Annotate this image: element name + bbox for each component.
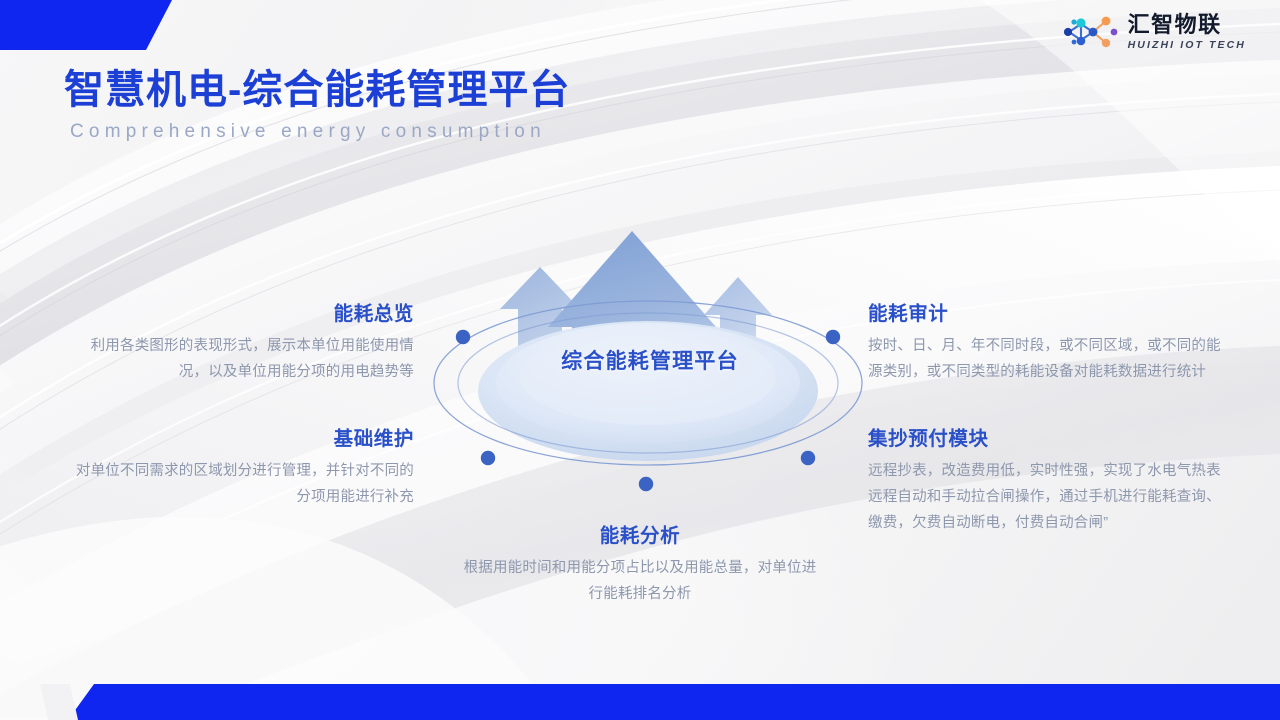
logo-wordmark: 汇智物联 HUIZHI IOT TECH xyxy=(1128,13,1246,50)
center-platform-label: 综合能耗管理平台 xyxy=(420,345,880,375)
feature-energy-analysis: 能耗分析 根据用能时间和用能分项占比以及用能总量，对单位进行能耗排名分析 xyxy=(460,525,820,607)
feature-title: 能耗审计 xyxy=(868,303,1230,326)
feature-basic-maintenance: 基础维护 对单位不同需求的区域划分进行管理，并针对不同的分项用能进行补充 xyxy=(62,428,414,510)
bottom-accent-shape xyxy=(0,684,1280,720)
feature-title: 能耗总览 xyxy=(62,303,414,326)
slide-canvas: 智慧机电-综合能耗管理平台 Comprehensive energy consu… xyxy=(0,0,1280,720)
title-block: 智慧机电-综合能耗管理平台 Comprehensive energy consu… xyxy=(64,68,570,143)
feature-prepaid-metering: 集抄预付模块 远程抄表，改造费用低，实时性强，实现了水电气热表远程自动和手动拉合… xyxy=(868,428,1230,536)
feature-energy-overview: 能耗总览 利用各类图形的表现形式，展示本单位用能使用情况，以及单位用能分项的用电… xyxy=(62,303,414,385)
feature-title: 基础维护 xyxy=(62,428,414,451)
feature-body: 远程抄表，改造费用低，实时性强，实现了水电气热表远程自动和手动拉合闸操作，通过手… xyxy=(868,458,1230,536)
center-platform-graphic: 综合能耗管理平台 xyxy=(420,215,880,525)
feature-title: 集抄预付模块 xyxy=(868,428,1230,451)
logo-name-cn: 汇智物联 xyxy=(1128,13,1222,36)
molecule-network-icon xyxy=(1062,13,1120,51)
feature-body: 利用各类图形的表现形式，展示本单位用能使用情况，以及单位用能分项的用电趋势等 xyxy=(62,333,414,385)
feature-energy-audit: 能耗审计 按时、日、月、年不同时段，或不同区域，或不同的能源类别，或不同类型的耗… xyxy=(868,303,1230,385)
company-logo: 汇智物联 HUIZHI IOT TECH xyxy=(1062,13,1246,51)
top-left-accent-strip xyxy=(0,0,150,5)
logo-name-en: HUIZHI IOT TECH xyxy=(1128,39,1246,51)
feature-body: 根据用能时间和用能分项占比以及用能总量，对单位进行能耗排名分析 xyxy=(460,555,820,607)
page-subtitle: Comprehensive energy consumption xyxy=(70,121,570,143)
feature-title: 能耗分析 xyxy=(460,525,820,548)
feature-body: 对单位不同需求的区域划分进行管理，并针对不同的分项用能进行补充 xyxy=(62,458,414,510)
page-title: 智慧机电-综合能耗管理平台 xyxy=(64,68,570,113)
feature-body: 按时、日、月、年不同时段，或不同区域，或不同的能源类别，或不同类型的耗能设备对能… xyxy=(868,333,1230,385)
